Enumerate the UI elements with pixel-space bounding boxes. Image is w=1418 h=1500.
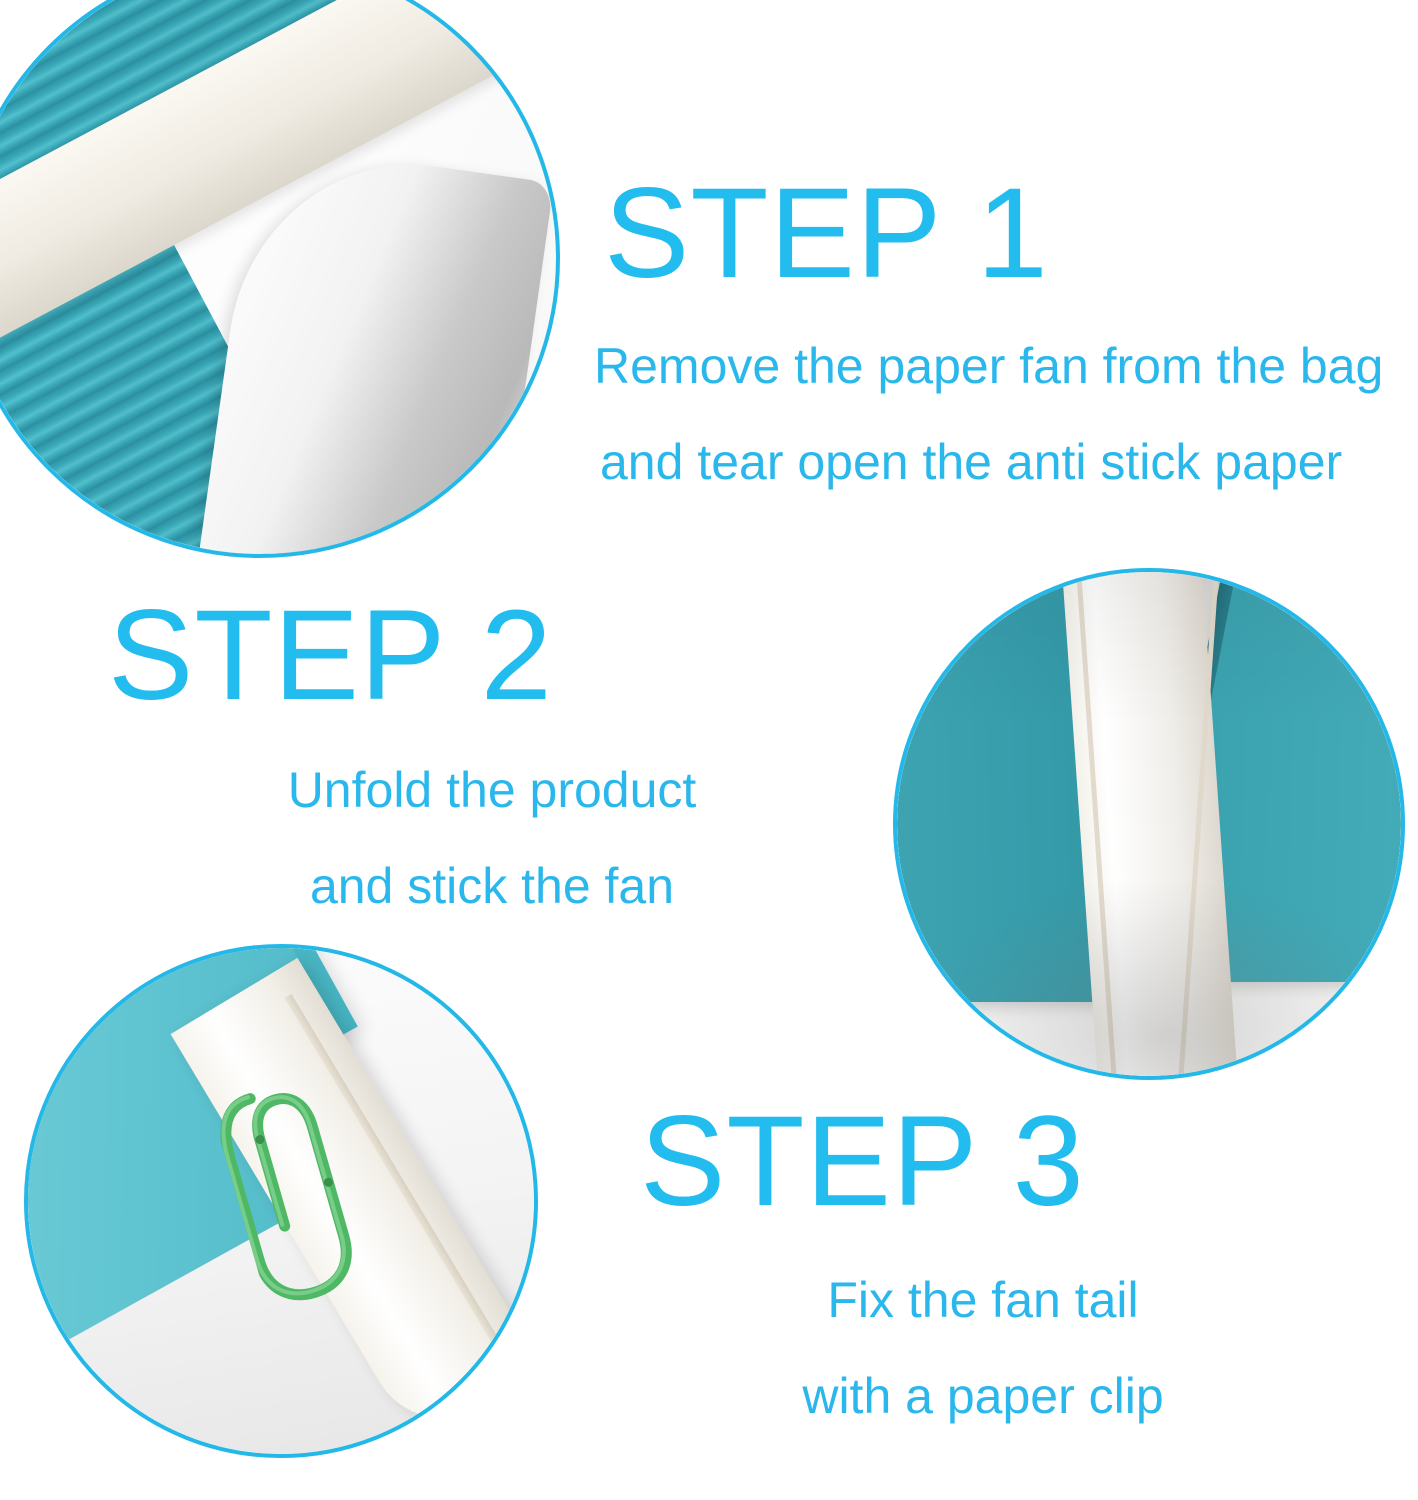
step-2-description-line-2: and stick the fan: [232, 838, 752, 934]
instruction-infographic: STEP 1 Remove the paper fan from the bag…: [0, 0, 1418, 1500]
step-2-photo-inner: [897, 572, 1401, 1076]
step-1-title: STEP 1: [604, 170, 1049, 298]
photo-shading-overlay: [897, 572, 1401, 1076]
step-3-photo: [24, 944, 538, 1458]
step-1-description: Remove the paper fan from the bag and te…: [594, 318, 1383, 510]
step-3-description: Fix the fan tail with a paper clip: [768, 1252, 1198, 1444]
step-2-description-line-1: Unfold the product: [232, 742, 752, 838]
step-3-description-line-1: Fix the fan tail: [768, 1252, 1198, 1348]
step-1-description-line-2: and tear open the anti stick paper: [600, 414, 1383, 510]
step-3-title: STEP 3: [640, 1098, 1085, 1226]
step-1-photo: [0, 0, 560, 558]
step-2-description: Unfold the product and stick the fan: [232, 742, 752, 934]
step-1-photo-inner: [0, 0, 556, 554]
step-3-photo-inner: [28, 948, 534, 1454]
step-2-title: STEP 2: [108, 592, 553, 720]
step-2-photo: [893, 568, 1405, 1080]
step-1-description-line-1: Remove the paper fan from the bag: [594, 318, 1383, 414]
step-3-description-line-2: with a paper clip: [768, 1348, 1198, 1444]
